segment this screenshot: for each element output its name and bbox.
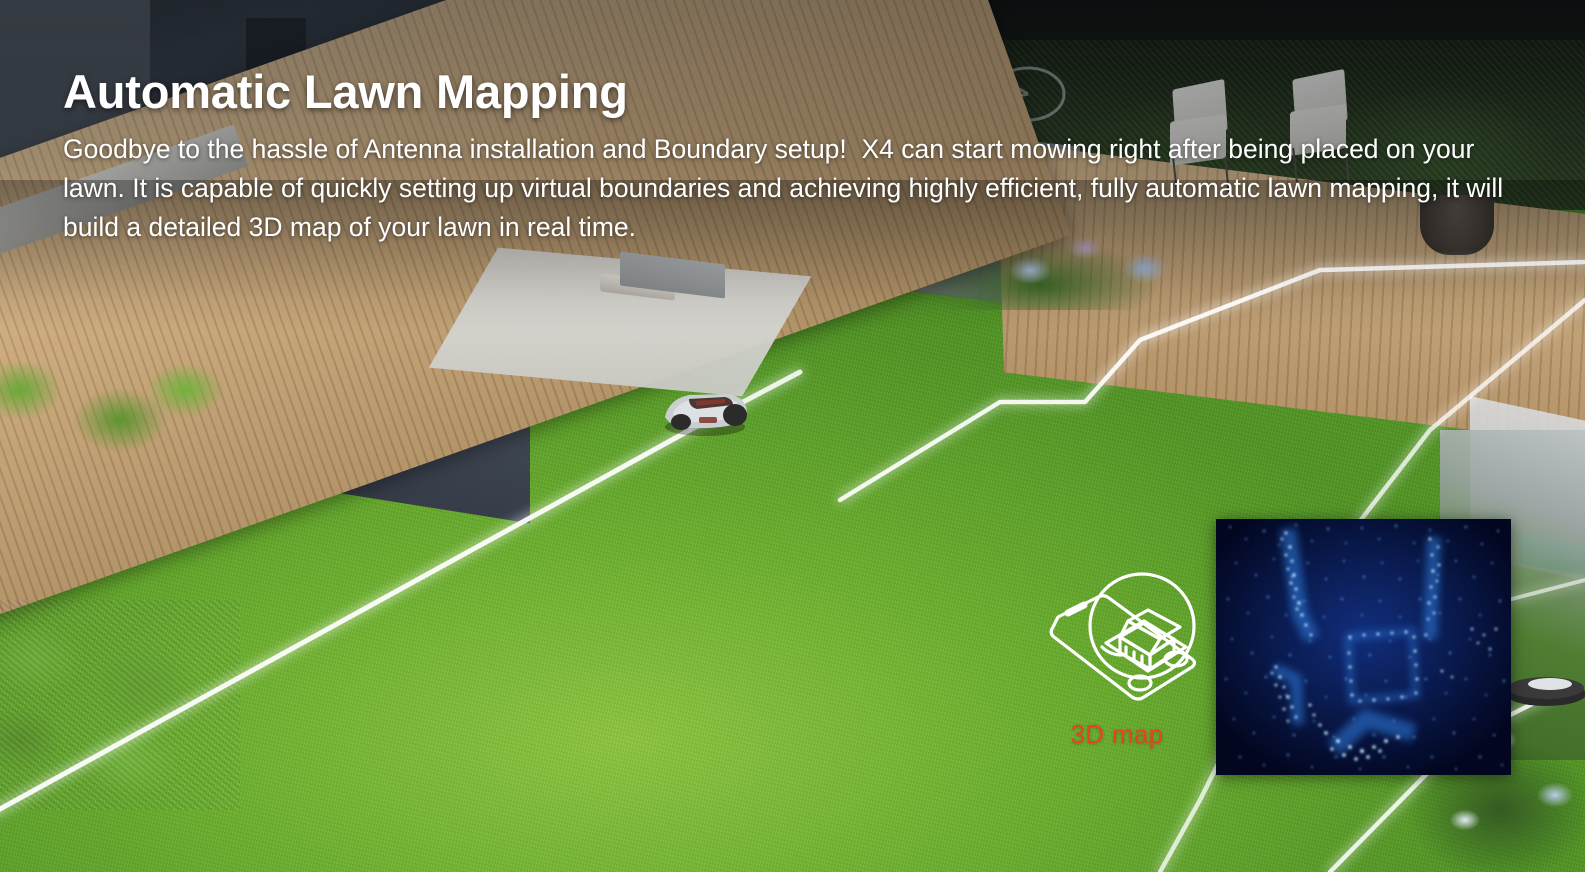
phone-3d-map-icon xyxy=(1024,555,1210,723)
headline-block: Automatic Lawn Mapping Goodbye to the ha… xyxy=(63,66,1533,247)
lawn-mapping-feature-slide: Automatic Lawn Mapping Goodbye to the ha… xyxy=(0,0,1585,872)
3d-map-feature-badge[interactable]: 3D map xyxy=(1022,555,1212,760)
page-title: Automatic Lawn Mapping xyxy=(63,66,1533,118)
3d-point-cloud-map[interactable] xyxy=(1216,519,1511,775)
page-description: Goodbye to the hassle of Antenna install… xyxy=(63,130,1518,247)
secondary-robot-mower xyxy=(1500,660,1585,706)
robot-mower xyxy=(655,383,755,437)
3d-map-label: 3D map xyxy=(1022,719,1212,750)
point-cloud-render xyxy=(1216,519,1511,775)
